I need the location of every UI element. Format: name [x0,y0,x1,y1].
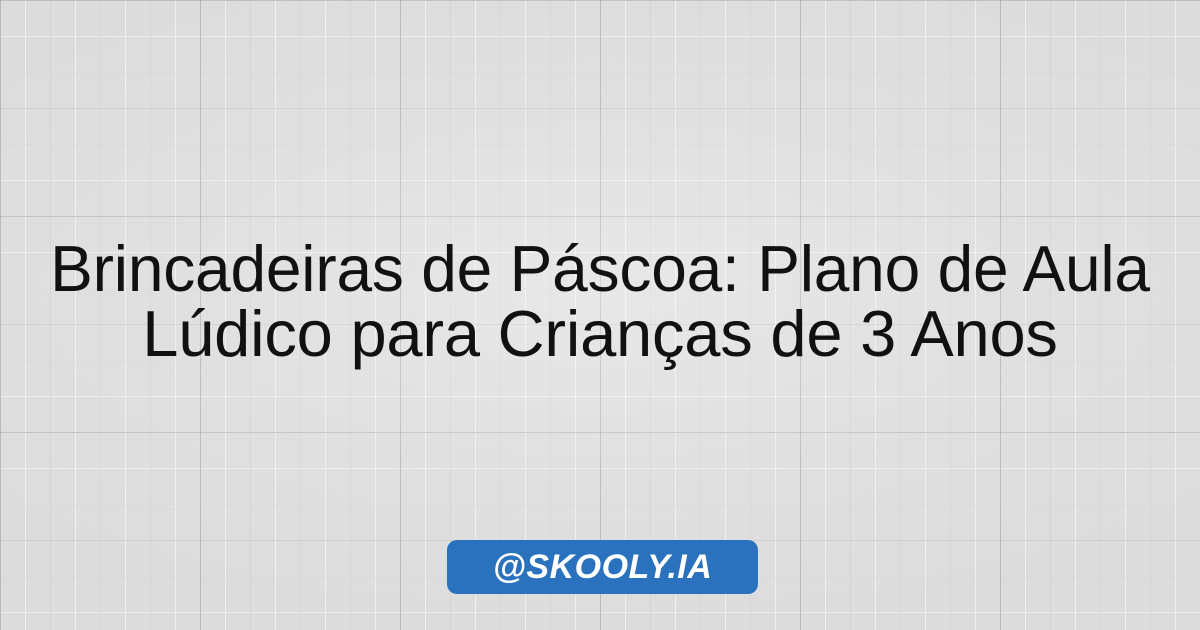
social-share-card: Brincadeiras de Páscoa: Plano de Aula Lú… [0,0,1200,630]
page-title: Brincadeiras de Páscoa: Plano de Aula Lú… [0,236,1200,366]
brand-handle-badge[interactable]: @SKOOLY.IA [447,540,758,594]
brand-handle-label: @SKOOLY.IA [493,550,713,584]
page-title-line-2: Lúdico para Crianças de 3 Anos [16,301,1184,366]
page-title-line-1: Brincadeiras de Páscoa: Plano de Aula [25,236,1175,301]
